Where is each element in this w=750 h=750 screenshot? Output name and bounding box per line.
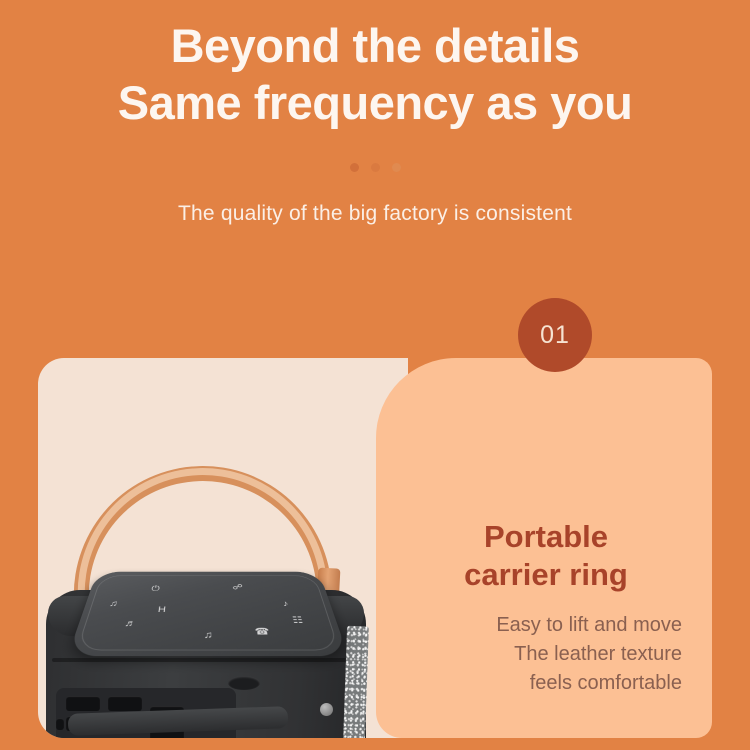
subtitle: The quality of the big factory is consis… [0, 202, 750, 226]
product-photo-card: ⏻ ☍ ♫ ♪ H ♬ ☷ ♫ ☎ [38, 358, 408, 738]
phone-call-icon[interactable]: ☎ [254, 628, 270, 637]
headline-line-1: Beyond the details [0, 18, 750, 73]
promo-header: Beyond the details Same frequency as you… [0, 0, 750, 250]
touch-control-panel[interactable]: ⏻ ☍ ♫ ♪ H ♬ ☷ ♫ ☎ [68, 572, 349, 656]
strap-rivet [320, 703, 333, 716]
product-image: ⏻ ☍ ♫ ♪ H ♬ ☷ ♫ ☎ [38, 358, 408, 738]
carousel-dot-1[interactable] [350, 163, 359, 172]
speaker-port [228, 676, 260, 690]
step-number-label: 01 [540, 321, 570, 350]
vent-slot [108, 696, 142, 711]
feature-description: Easy to lift and move The leather textur… [410, 611, 682, 698]
feature-info-panel: Portable carrier ring Easy to lift and m… [376, 358, 712, 738]
feature-section: ⏻ ☍ ♫ ♪ H ♬ ☷ ♫ ☎ [0, 300, 750, 750]
equalizer-icon[interactable]: ☷ [292, 617, 304, 626]
mode-icon[interactable]: H [157, 606, 166, 614]
feature-body-line-3: feels comfortable [410, 669, 682, 698]
feature-body-line-1: Easy to lift and move [410, 611, 682, 640]
vent-slot [56, 718, 64, 730]
carousel-dots[interactable] [0, 163, 750, 172]
headline-line-2: Same frequency as you [0, 75, 750, 130]
feature-title-line-1: Portable [410, 518, 682, 556]
power-icon[interactable]: ⏻ [151, 585, 160, 592]
feature-title-line-2: carrier ring [410, 556, 682, 594]
step-number-badge: 01 [518, 298, 592, 372]
speaker-body-seam [52, 658, 352, 662]
bluetooth-icon[interactable]: ☍ [232, 584, 243, 591]
carousel-dot-3[interactable] [392, 163, 401, 172]
carousel-dot-2[interactable] [371, 163, 380, 172]
play-pause-icon[interactable]: ♫ [204, 631, 213, 640]
feature-body-line-2: The leather texture [410, 640, 682, 669]
music-note-icon[interactable]: ♬ [124, 620, 137, 629]
feature-title: Portable carrier ring [410, 518, 682, 594]
vent-slot [66, 696, 100, 711]
